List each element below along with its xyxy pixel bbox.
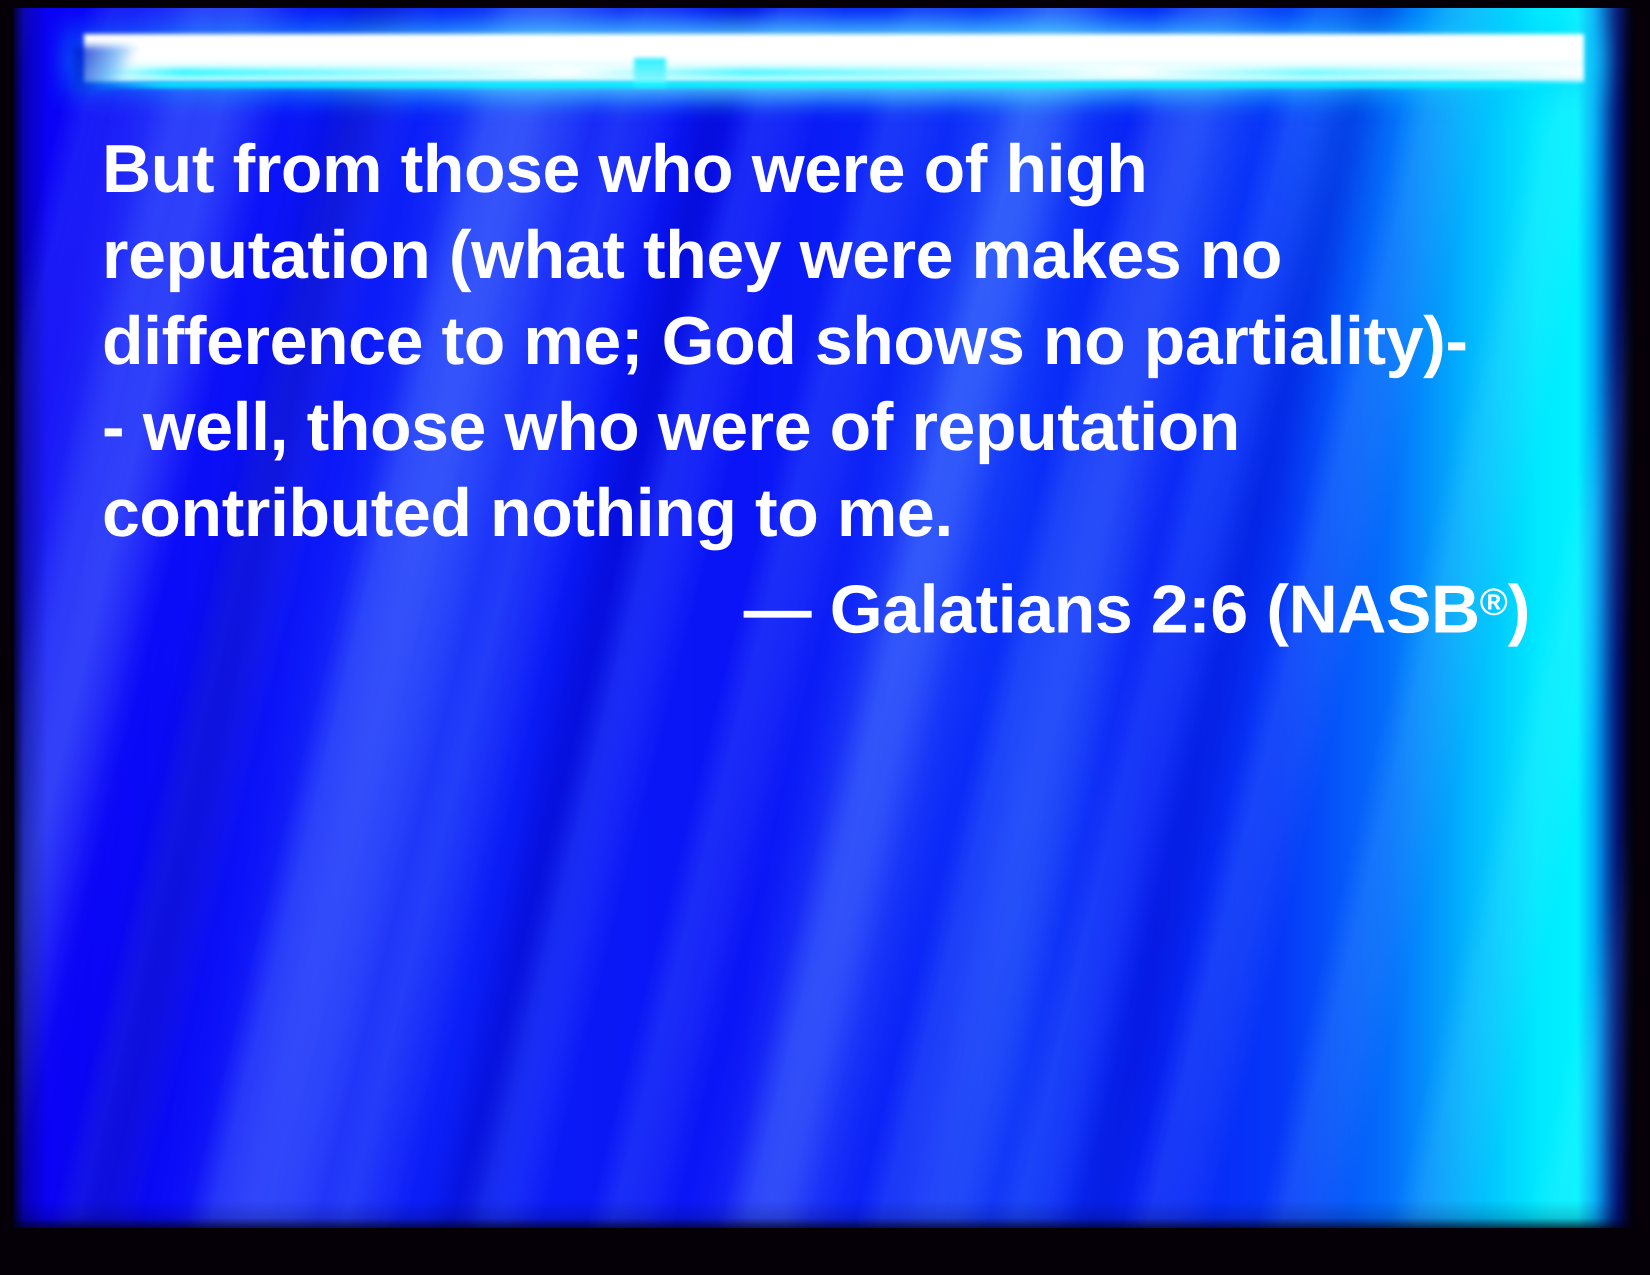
registered-trademark-icon: ® xyxy=(1480,582,1508,624)
banner-left-bevel xyxy=(74,46,164,90)
top-banner xyxy=(74,28,1594,90)
attribution-translation-open: (NASB xyxy=(1266,572,1479,648)
attribution-spacer-2 xyxy=(1132,572,1151,648)
slide-canvas: But from those who were of high reputati… xyxy=(14,8,1634,1228)
verse-slide: But from those who were of high reputati… xyxy=(0,0,1650,1275)
banner-cyan-underline xyxy=(88,82,1582,88)
attribution-dash: — xyxy=(744,572,812,648)
attribution-spacer-3 xyxy=(1248,572,1267,648)
verse-line-4: - well, those who were of reputation xyxy=(102,384,1532,470)
banner-cyan-streak xyxy=(92,68,1578,77)
attribution-book: Galatians xyxy=(830,572,1133,648)
verse-line-1: But from those who were of high xyxy=(102,126,1532,212)
attribution-reference: 2:6 xyxy=(1151,572,1248,648)
verse-text-block: But from those who were of high reputati… xyxy=(102,126,1532,653)
verse-line-2: reputation (what they were makes no xyxy=(102,212,1532,298)
attribution-spacer-1 xyxy=(811,572,830,648)
verse-line-5: contributed nothing to me. xyxy=(102,470,1532,556)
verse-attribution: — Galatians 2:6 (NASB®) xyxy=(102,560,1532,653)
attribution-translation-close: ) xyxy=(1508,572,1530,648)
verse-line-3: difference to me; God shows no partialit… xyxy=(102,298,1532,384)
